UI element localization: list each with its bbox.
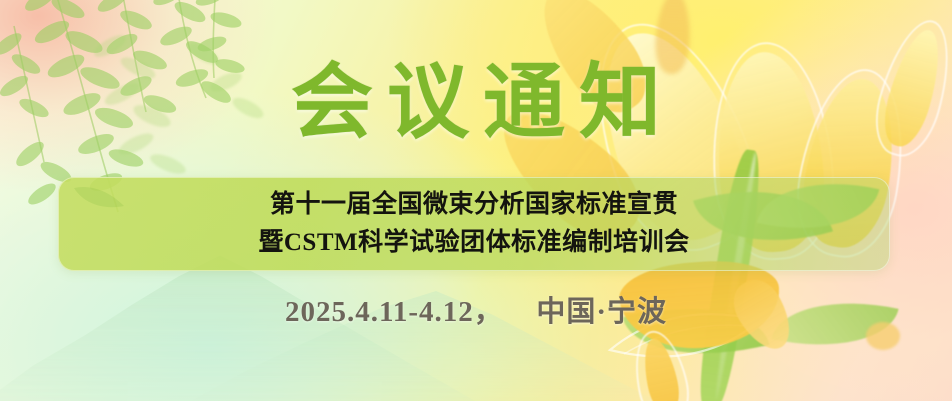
subtitle-line-2: 暨CSTM科学试验团体标准编制培训会 (58, 224, 890, 262)
conference-subtitle: 第十一届全国微束分析国家标准宣贯 暨CSTM科学试验团体标准编制培训会 (58, 186, 890, 262)
fallen-petal-outline-icon (627, 326, 695, 401)
date-and-location: 2025.4.11-4.12， 中国·宁波 (0, 288, 952, 330)
date-range: 2025.4.11-4.12， (285, 296, 504, 328)
fallen-petal-icon (638, 336, 683, 401)
subtitle-line-1: 第十一届全国微束分析国家标准宣贯 (58, 186, 890, 224)
conference-notice-banner: 会议通知 第十一届全国微束分析国家标准宣贯 暨CSTM科学试验团体标准编制培训会… (0, 0, 952, 401)
location: 中国·宁波 (536, 296, 667, 328)
page-title: 会议通知 (0, 62, 952, 144)
